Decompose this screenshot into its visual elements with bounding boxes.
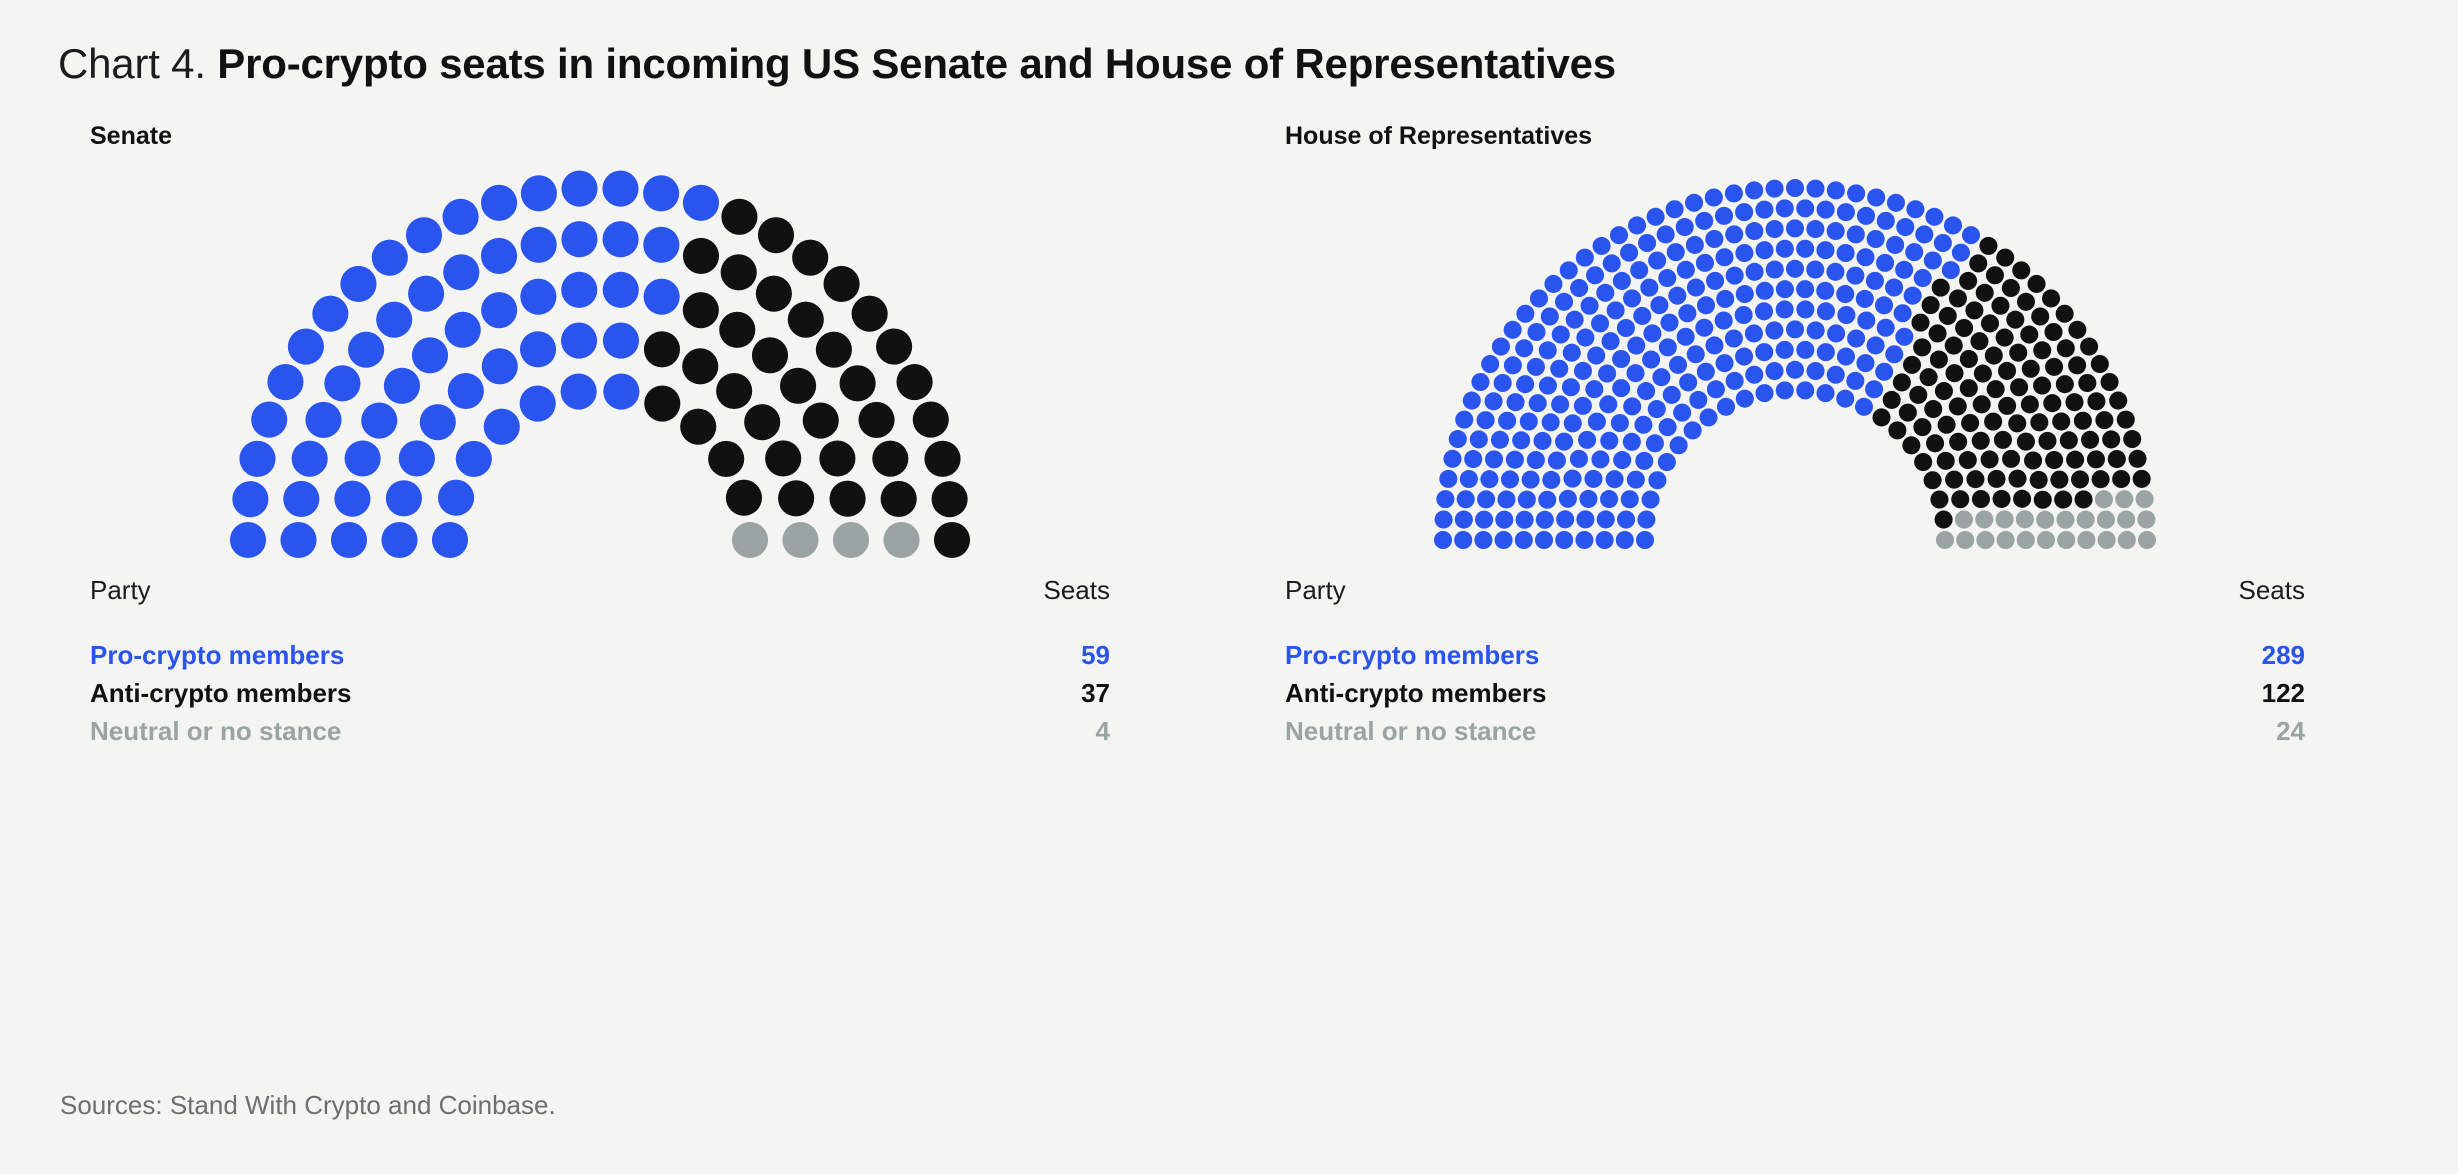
seat-dot — [1454, 531, 1472, 549]
seat-dot — [1642, 351, 1660, 369]
seat-dot — [683, 292, 719, 328]
seat-dot — [1564, 414, 1582, 432]
seat-dot — [1895, 328, 1913, 346]
seat-dot — [2102, 430, 2120, 448]
seat-dot — [288, 329, 324, 365]
seat-dot — [1634, 416, 1652, 434]
seat-dot — [1498, 412, 1516, 430]
legend-label-neutral: Neutral or no stance — [1285, 716, 2098, 754]
seat-dot — [1659, 418, 1677, 436]
seat-dot — [2002, 450, 2020, 468]
seat-dot — [1696, 254, 1714, 272]
seat-dot — [2010, 378, 2028, 396]
seat-dot — [1952, 244, 1970, 262]
seat-dot — [1574, 362, 1592, 380]
seat-dot — [2074, 412, 2092, 430]
seat-dot — [1888, 421, 1906, 439]
seat-dot — [2101, 373, 2119, 391]
seat-dot — [1705, 230, 1723, 248]
seat-dot — [2138, 531, 2156, 549]
seat-dot — [1887, 194, 1905, 212]
seat-dot — [1627, 471, 1645, 489]
seat-dot — [1707, 380, 1725, 398]
seat-dot — [1633, 307, 1651, 325]
seat-dot — [1993, 490, 2011, 508]
seat-dot — [561, 373, 597, 409]
seat-dot — [1913, 418, 1931, 436]
seat-dot — [1904, 287, 1922, 305]
seat-dot — [1936, 531, 1954, 549]
seat-dot — [1706, 272, 1724, 290]
seat-dot — [1998, 397, 2016, 415]
seat-dot — [2117, 511, 2135, 529]
seat-dot — [2112, 470, 2130, 488]
seat-dot — [2006, 311, 2024, 329]
seat-dot — [324, 365, 360, 401]
seat-dot — [1485, 450, 1503, 468]
seat-dot — [1678, 304, 1696, 322]
seat-dot — [1755, 302, 1773, 320]
seat-dot — [399, 440, 435, 476]
seat-dot — [1867, 230, 1885, 248]
seat-dot — [782, 522, 818, 558]
seat-dot — [1673, 404, 1691, 422]
seat-dot — [1658, 453, 1676, 471]
seat-dot — [1972, 432, 1990, 450]
seat-dot — [1745, 366, 1763, 384]
seat-dot — [2066, 451, 2084, 469]
seat-dot — [1827, 324, 1845, 342]
seat-dot — [520, 386, 556, 422]
seat-dot — [1600, 432, 1618, 450]
senate-panel-heading: Senate — [90, 122, 172, 151]
seat-dot — [2024, 451, 2042, 469]
page-title: Chart 4. Pro-crypto seats in incoming US… — [58, 40, 1616, 88]
seat-dot — [1667, 243, 1685, 261]
seat-dot — [561, 171, 597, 207]
seat-dot — [1924, 400, 1942, 418]
seat-dot — [1725, 225, 1743, 243]
seat-dot — [2091, 355, 2109, 373]
seat-dot — [1616, 531, 1634, 549]
seat-dot — [1480, 470, 1498, 488]
seat-dot — [1562, 378, 1580, 396]
seat-dot — [1612, 379, 1630, 397]
seat-dot — [1855, 398, 1873, 416]
seat-dot — [1836, 390, 1854, 408]
seat-dot — [1507, 393, 1525, 411]
legend-label-pro-crypto: Pro-crypto members — [1285, 640, 2098, 678]
seat-dot — [1806, 362, 1824, 380]
legend-value-anti-crypto: 122 — [2098, 678, 2305, 716]
seat-dot — [840, 365, 876, 401]
seat-dot — [1942, 261, 1960, 279]
seat-dot — [1548, 451, 1566, 469]
seat-dot — [1646, 434, 1664, 452]
seat-dot — [1471, 373, 1489, 391]
seat-dot — [2108, 450, 2126, 468]
seat-dot — [1551, 395, 1569, 413]
seat-dot — [1642, 491, 1660, 509]
seat-dot — [1973, 395, 1991, 413]
seat-dot — [1924, 471, 1942, 489]
seat-dot — [1492, 338, 1510, 356]
seat-dot — [2020, 326, 2038, 344]
seat-dot — [1885, 345, 1903, 363]
seat-dot — [1786, 219, 1804, 237]
seat-dot — [756, 276, 792, 312]
seat-dot — [438, 480, 474, 516]
seat-dot — [2036, 511, 2054, 529]
seat-dot — [716, 373, 752, 409]
seat-dot — [1637, 382, 1655, 400]
seat-dot — [1756, 282, 1774, 300]
column-header-seats: Seats — [903, 575, 1110, 640]
seat-dot — [1886, 236, 1904, 254]
seat-dot — [1495, 511, 1513, 529]
seat-dot — [1847, 225, 1865, 243]
seat-dot — [1527, 451, 1545, 469]
seat-dot — [1477, 490, 1495, 508]
seat-dot — [752, 337, 788, 373]
seat-dot — [1875, 363, 1893, 381]
seat-dot — [1837, 306, 1855, 324]
seat-dot — [561, 323, 597, 359]
seat-dot — [1576, 510, 1594, 528]
seat-dot — [1786, 260, 1804, 278]
seat-dot — [1988, 470, 2006, 488]
seat-dot — [1716, 354, 1734, 372]
seat-dot — [1581, 297, 1599, 315]
seat-dot — [1650, 296, 1668, 314]
seat-dot — [833, 522, 869, 558]
seat-dot — [2033, 377, 2051, 395]
seat-dot — [1643, 324, 1661, 342]
seat-dot — [1846, 267, 1864, 285]
seat-dot — [1806, 180, 1824, 198]
seat-dot — [1755, 384, 1773, 402]
seat-dot — [1746, 263, 1764, 281]
seat-dot — [1883, 391, 1901, 409]
seat-dot — [1765, 362, 1783, 380]
seat-dot — [406, 217, 442, 253]
seat-dot — [1566, 311, 1584, 329]
seat-dot — [2060, 431, 2078, 449]
table-header-row: Party Seats — [1285, 575, 2305, 640]
seat-dot — [1515, 339, 1533, 357]
seat-dot — [1495, 531, 1513, 549]
seat-dot — [1617, 319, 1635, 337]
seat-dot — [2002, 279, 2020, 297]
seat-dot — [2095, 411, 2113, 429]
seat-dot — [2045, 358, 2063, 376]
seat-dot — [1935, 382, 1953, 400]
seat-dot — [1463, 392, 1481, 410]
seat-dot — [1563, 344, 1581, 362]
column-header-party: Party — [1285, 575, 2098, 640]
seat-dot — [1806, 220, 1824, 238]
legend-label-neutral: Neutral or no stance — [90, 716, 903, 754]
seat-dot — [1837, 203, 1855, 221]
seat-dot — [2038, 432, 2056, 450]
seat-dot — [1617, 510, 1635, 528]
seat-dot — [2009, 344, 2027, 362]
seat-dot — [1584, 470, 1602, 488]
seat-dot — [384, 368, 420, 404]
seat-dot — [1994, 431, 2012, 449]
seat-dot — [520, 331, 556, 367]
seat-dot — [1705, 336, 1723, 354]
seat-dot — [376, 302, 412, 338]
seat-dot — [481, 238, 517, 274]
seat-dot — [445, 312, 481, 348]
seat-dot — [1669, 356, 1687, 374]
seat-dot — [1529, 394, 1547, 412]
seat-dot — [1556, 510, 1574, 528]
seat-dot — [1885, 279, 1903, 297]
seat-dot — [1975, 510, 1993, 528]
seat-dot — [1827, 181, 1845, 199]
seat-dot — [1501, 470, 1519, 488]
seat-dot — [1527, 358, 1545, 376]
seat-dot — [2087, 392, 2105, 410]
seat-dot — [484, 409, 520, 445]
seat-dot — [1716, 290, 1734, 308]
seat-dot — [481, 185, 517, 221]
seat-dot — [1856, 290, 1874, 308]
seat-dot — [1796, 341, 1814, 359]
seat-dot — [758, 217, 794, 253]
seat-dot — [1470, 430, 1488, 448]
seat-dot — [1652, 368, 1670, 386]
seat-dot — [2092, 470, 2110, 488]
seat-dot — [2098, 531, 2116, 549]
seat-dot — [1705, 188, 1723, 206]
seat-dot — [603, 373, 639, 409]
seat-dot — [778, 480, 814, 516]
seat-dot — [1611, 414, 1629, 432]
seat-dot — [1996, 249, 2014, 267]
seat-dot — [1647, 208, 1665, 226]
seat-dot — [1745, 324, 1763, 342]
seat-dot — [1920, 368, 1938, 386]
seat-dot — [1443, 450, 1461, 468]
seat-dot — [1668, 287, 1686, 305]
seat-dot — [1776, 300, 1794, 318]
seat-dot — [1765, 321, 1783, 339]
table-row: Pro-crypto members 59 — [90, 640, 1110, 678]
seat-dot — [1640, 279, 1658, 297]
seat-dot — [1538, 491, 1556, 509]
seat-dot — [280, 522, 316, 558]
seat-dot — [1997, 531, 2015, 549]
seat-dot — [1776, 240, 1794, 258]
seat-dot — [2078, 374, 2096, 392]
seat-dot — [2043, 394, 2061, 412]
seat-dot — [644, 279, 680, 315]
table-row: Pro-crypto members 289 — [1285, 640, 2305, 678]
table-header-row: Party Seats — [90, 575, 1110, 640]
seat-dot — [1542, 471, 1560, 489]
seat-dot — [1895, 261, 1913, 279]
seat-dot — [683, 185, 719, 221]
seat-dot — [1837, 348, 1855, 366]
seat-dot — [2077, 531, 2095, 549]
seat-dot — [1555, 433, 1573, 451]
seat-dot — [1637, 511, 1655, 529]
seat-dot — [603, 221, 639, 257]
seat-dot — [1587, 347, 1605, 365]
table-row: Anti-crypto members 37 — [90, 678, 1110, 716]
seat-dot — [643, 175, 679, 211]
seat-dot — [1663, 386, 1681, 404]
seat-dot — [251, 402, 287, 438]
seat-dot — [2016, 510, 2034, 528]
legend-value-pro-crypto: 289 — [2098, 640, 2305, 678]
seat-dot — [1434, 531, 1452, 549]
seat-dot — [1596, 284, 1614, 302]
seat-dot — [1969, 254, 1987, 272]
table-row: Neutral or no stance 4 — [90, 716, 1110, 754]
seat-dot — [443, 254, 479, 290]
seat-dot — [1930, 351, 1948, 369]
seat-dot — [372, 240, 408, 276]
seat-dot — [1922, 296, 1940, 314]
legend-label-anti-crypto: Anti-crypto members — [90, 678, 903, 716]
seat-dot — [1745, 181, 1763, 199]
seat-dot — [1796, 240, 1814, 258]
seat-dot — [1945, 471, 1963, 489]
seat-dot — [2050, 471, 2068, 489]
seat-dot — [1914, 269, 1932, 287]
seat-dot — [680, 409, 716, 445]
seat-dot — [1827, 366, 1845, 384]
seat-dot — [1555, 293, 1573, 311]
seat-dot — [1648, 471, 1666, 489]
seat-dot — [1539, 377, 1557, 395]
seat-dot — [1527, 323, 1545, 341]
seat-dot — [1627, 337, 1645, 355]
seat-dot — [2056, 305, 2074, 323]
seat-dot — [1599, 395, 1617, 413]
seat-dot — [443, 199, 479, 235]
seat-dot — [1906, 200, 1924, 218]
seat-dot — [1563, 470, 1581, 488]
seat-dot — [765, 440, 801, 476]
seat-dot — [1796, 300, 1814, 318]
seat-dot — [1591, 314, 1609, 332]
seat-dot — [1612, 350, 1630, 368]
seat-dot — [2034, 491, 2052, 509]
seat-dot — [788, 302, 824, 338]
seat-dot — [1606, 470, 1624, 488]
seat-dot — [1623, 289, 1641, 307]
seat-dot — [1695, 212, 1713, 230]
seat-dot — [345, 440, 381, 476]
seat-dot — [1512, 431, 1530, 449]
seat-dot — [1867, 188, 1885, 206]
seat-dot — [2087, 450, 2105, 468]
seat-dot — [1578, 431, 1596, 449]
seat-dot — [1494, 374, 1512, 392]
seat-dot — [1826, 263, 1844, 281]
seat-dot — [2071, 470, 2089, 488]
seat-dot — [1699, 408, 1717, 426]
seat-dot — [603, 323, 639, 359]
seat-dot — [1865, 380, 1883, 398]
seat-dot — [1856, 248, 1874, 266]
seat-dot — [1745, 222, 1763, 240]
seat-dot — [1677, 328, 1695, 346]
seat-dot — [1986, 266, 2004, 284]
seat-dot — [1588, 413, 1606, 431]
house-legend-table: Party Seats Pro-crypto members 289 Anti-… — [1285, 575, 2305, 754]
seat-dot — [1846, 372, 1864, 390]
seat-dot — [1857, 207, 1875, 225]
seat-dot — [924, 441, 960, 477]
legend-value-neutral: 24 — [2098, 716, 2305, 754]
seat-dot — [1475, 511, 1493, 529]
seat-dot — [1504, 356, 1522, 374]
seat-dot — [1598, 365, 1616, 383]
seat-dot — [1935, 511, 1953, 529]
seat-dot — [1966, 470, 1984, 488]
seat-dot — [1877, 212, 1895, 230]
seat-dot — [1585, 380, 1603, 398]
seat-dot — [1516, 511, 1534, 529]
seat-dot — [1776, 341, 1794, 359]
seat-dot — [1593, 237, 1611, 255]
seat-dot — [721, 199, 757, 235]
seat-dot — [1648, 252, 1666, 270]
seat-dot — [830, 481, 866, 517]
seat-dot — [1659, 338, 1677, 356]
seat-dot — [1570, 279, 1588, 297]
seat-dot — [2056, 511, 2074, 529]
seat-dot — [1972, 490, 1990, 508]
seat-dot — [232, 481, 268, 517]
seat-dot — [1934, 234, 1952, 252]
seat-dot — [1836, 285, 1854, 303]
seat-dot — [2128, 450, 2146, 468]
senate-legend-table: Party Seats Pro-crypto members 59 Anti-c… — [90, 575, 1110, 754]
seat-dot — [2097, 511, 2115, 529]
senate-seat-diagram — [60, 168, 1140, 568]
seat-dot — [1937, 452, 1955, 470]
seat-dot — [361, 402, 397, 438]
seat-dot — [520, 279, 556, 315]
seat-dot — [1965, 301, 1983, 319]
seat-dot — [1827, 222, 1845, 240]
seat-dot — [1626, 364, 1644, 382]
column-header-party: Party — [90, 575, 903, 640]
seat-dot — [2012, 261, 2030, 279]
seat-dot — [1930, 491, 1948, 509]
seat-dot — [1735, 348, 1753, 366]
seat-dot — [726, 480, 762, 516]
seat-dot — [1535, 531, 1553, 549]
seat-dot — [1687, 279, 1705, 297]
seat-dot — [561, 221, 597, 257]
seat-dot — [1628, 216, 1646, 234]
seat-dot — [1715, 207, 1733, 225]
seat-dot — [1974, 365, 1992, 383]
seat-dot — [2068, 356, 2086, 374]
legend-value-pro-crypto: 59 — [903, 640, 1110, 678]
seat-dot — [1984, 413, 2002, 431]
seat-dot — [1620, 244, 1638, 262]
seat-dot — [2042, 289, 2060, 307]
